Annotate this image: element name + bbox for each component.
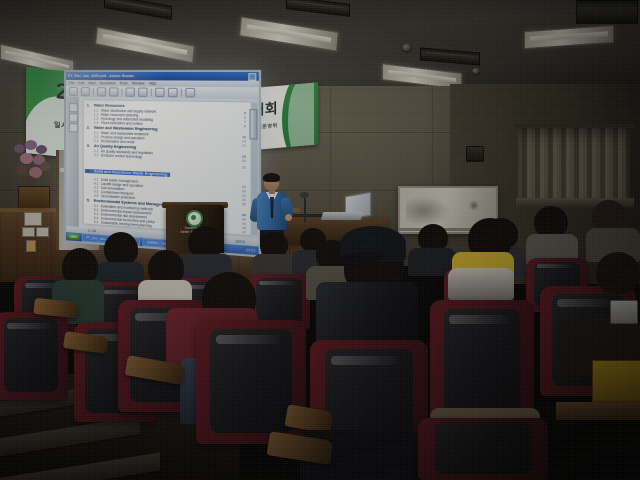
smoke-detector <box>402 44 412 51</box>
toc-page-number: 25 <box>242 165 246 169</box>
baseball-cap <box>340 226 406 262</box>
close-icon[interactable] <box>248 73 256 81</box>
page-indicator: 1 / 24 <box>88 228 96 233</box>
handrail <box>556 402 640 420</box>
wall-switch-panel[interactable] <box>20 212 54 254</box>
zoom-out-icon[interactable] <box>126 87 135 96</box>
toc-item-page: 9 <box>244 124 246 128</box>
zoom-in-icon[interactable] <box>138 88 147 97</box>
pdf-window-title: PT_Env_Jan_2009.pdf - Adobe Reader <box>68 74 134 78</box>
pdf-toolbar <box>66 86 259 99</box>
search-icon[interactable] <box>185 88 195 98</box>
pdf-navigation-pane <box>66 97 79 227</box>
toc-item-page: 17 <box>242 143 246 147</box>
menu-item-tools[interactable]: Tools <box>119 81 127 85</box>
flower-arrangement <box>12 140 58 190</box>
select-tool-icon[interactable] <box>97 87 106 96</box>
cable <box>290 214 324 217</box>
yellow-package <box>592 360 640 402</box>
menu-item-file[interactable]: File <box>69 81 74 85</box>
toc-item-page: 35 <box>242 201 246 206</box>
audience-body <box>448 268 514 300</box>
projection-screen: PT_Env_Jan_2009.pdf - Adobe Reader File … <box>64 70 261 258</box>
menu-item-window[interactable]: Window <box>132 81 145 85</box>
wall-speaker-icon <box>466 146 484 162</box>
open-file-icon[interactable] <box>69 87 78 96</box>
toc-section[interactable]: 1.Water Resources31.1Water distribution … <box>85 103 248 128</box>
menu-item-help[interactable]: Help <box>149 81 156 85</box>
bookmarks-icon[interactable] <box>69 103 78 112</box>
auditorium-seat <box>0 312 68 400</box>
university-emblem-icon <box>186 210 203 227</box>
menu-item-edit[interactable]: Edit <box>78 81 84 85</box>
menu-item-view[interactable]: View <box>88 81 95 85</box>
projected-desktop: PT_Env_Jan_2009.pdf - Adobe Reader File … <box>66 72 259 255</box>
toc-item-number: 4.5 <box>94 193 98 197</box>
toc-section-heading[interactable]: 4.Solid and Hazardous Waste Engineering <box>85 168 170 177</box>
camera-device[interactable] <box>610 300 638 324</box>
wall-plaque <box>18 186 50 210</box>
scrollbar-thumb[interactable] <box>249 109 257 140</box>
zoom-indicator[interactable]: 100% <box>235 239 245 244</box>
microphone-stand <box>304 196 306 222</box>
menu-item-document[interactable]: Document <box>100 81 116 85</box>
window-curtain <box>518 128 630 200</box>
attachments-icon[interactable] <box>69 123 78 132</box>
air-vent <box>576 0 638 24</box>
toc-section-number: 4. <box>87 169 90 174</box>
prev-page-icon[interactable] <box>155 88 165 97</box>
print-icon[interactable] <box>81 87 90 96</box>
toc-item-number: 3.2 <box>94 153 98 157</box>
smoke-detector <box>472 68 480 74</box>
hand-tool-icon[interactable] <box>109 87 118 96</box>
lecture-hall-photo: 2 일시 술대회 주최 기획운영위 PT_Env_Jan_2009.pdf <box>0 0 640 480</box>
pages-thumbnail-icon[interactable] <box>69 113 78 122</box>
laptop-keyboard[interactable] <box>321 212 363 220</box>
auditorium-seat <box>418 418 548 480</box>
audience-head <box>104 232 138 266</box>
toc-item-page: 49 <box>242 234 246 235</box>
toc-item-number: 1.4 <box>94 120 98 124</box>
start-button[interactable]: start <box>67 233 80 240</box>
audience-head <box>596 252 640 294</box>
system-tray-clock[interactable]: 14:22 <box>244 246 258 254</box>
microphone-icon <box>300 192 309 198</box>
toc-item-page: 22 <box>242 159 246 163</box>
toc-item-number: 2.3 <box>94 139 98 143</box>
next-page-icon[interactable] <box>168 88 178 98</box>
